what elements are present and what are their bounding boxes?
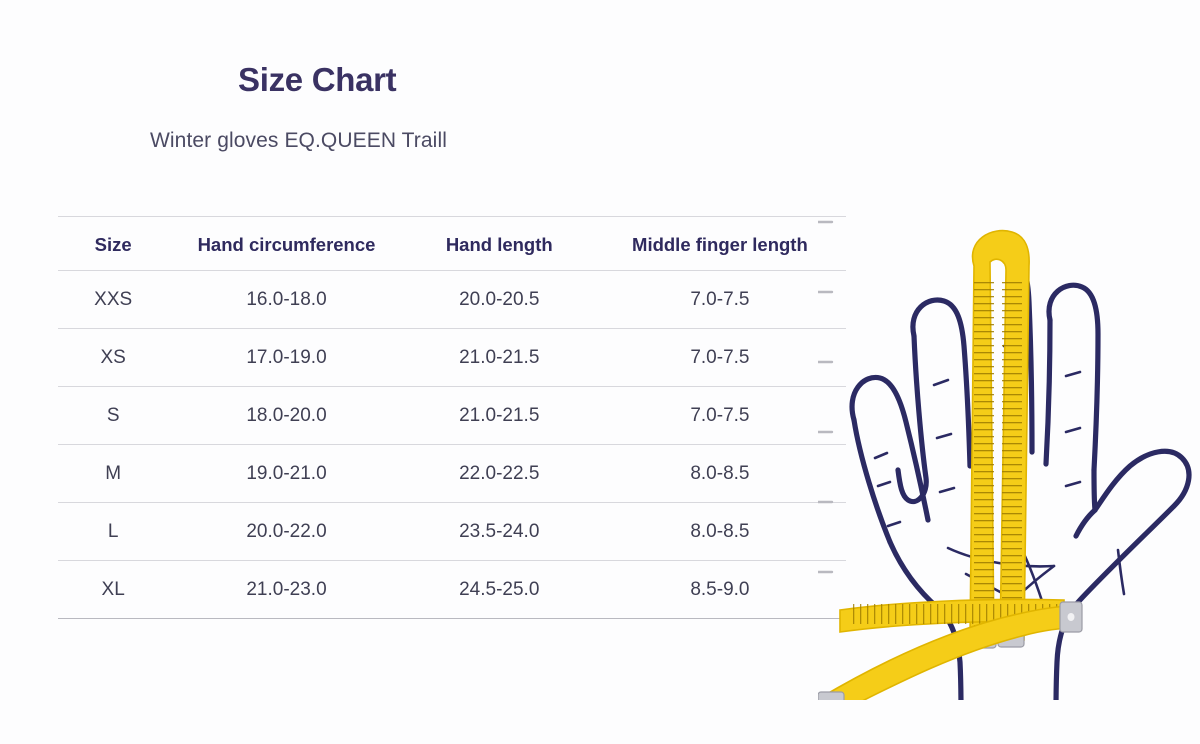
cell-middle-finger-length: 8.0-8.5 <box>594 503 846 561</box>
size-table-container: Size Hand circumference Hand length Midd… <box>58 216 846 619</box>
column-header-size: Size <box>58 217 168 271</box>
table-row: XS 17.0-19.0 21.0-21.5 7.0-7.5 <box>58 329 846 387</box>
cell-hand-circumference: 17.0-19.0 <box>168 329 404 387</box>
cell-hand-circumference: 16.0-18.0 <box>168 271 404 329</box>
product-subtitle: Winter gloves EQ.QUEEN Traill <box>0 98 840 153</box>
table-row: XXS 16.0-18.0 20.0-20.5 7.0-7.5 <box>58 271 846 329</box>
cell-size: XL <box>58 561 168 619</box>
cell-middle-finger-length: 8.0-8.5 <box>594 445 846 503</box>
ruler-edge-marks <box>818 222 832 572</box>
table-header: Size Hand circumference Hand length Midd… <box>58 217 846 271</box>
column-header-middle-finger-length: Middle finger length <box>594 217 846 271</box>
table-header-row: Size Hand circumference Hand length Midd… <box>58 217 846 271</box>
table-row: L 20.0-22.0 23.5-24.0 8.0-8.5 <box>58 503 846 561</box>
hand-illustration-svg <box>818 170 1200 700</box>
header: Size Chart Winter gloves EQ.QUEEN Traill <box>0 62 840 153</box>
cell-middle-finger-length: 7.0-7.5 <box>594 329 846 387</box>
size-chart-page: Size Chart Winter gloves EQ.QUEEN Traill… <box>0 0 1200 744</box>
cell-size: L <box>58 503 168 561</box>
cell-hand-circumference: 21.0-23.0 <box>168 561 404 619</box>
table-row: M 19.0-21.0 22.0-22.5 8.0-8.5 <box>58 445 846 503</box>
table-row: XL 21.0-23.0 24.5-25.0 8.5-9.0 <box>58 561 846 619</box>
cell-size: XXS <box>58 271 168 329</box>
cell-hand-length: 23.5-24.0 <box>405 503 594 561</box>
cell-middle-finger-length: 7.0-7.5 <box>594 387 846 445</box>
vertical-measuring-tape <box>968 231 1029 648</box>
horizontal-measuring-tape <box>818 599 1082 700</box>
cell-hand-circumference: 19.0-21.0 <box>168 445 404 503</box>
cell-hand-length: 20.0-20.5 <box>405 271 594 329</box>
cell-hand-length: 21.0-21.5 <box>405 387 594 445</box>
hand-with-measuring-tape-illustration <box>818 170 1200 700</box>
cell-hand-circumference: 18.0-20.0 <box>168 387 404 445</box>
cell-hand-length: 21.0-21.5 <box>405 329 594 387</box>
cell-middle-finger-length: 8.5-9.0 <box>594 561 846 619</box>
table-row: S 18.0-20.0 21.0-21.5 7.0-7.5 <box>58 387 846 445</box>
cell-size: S <box>58 387 168 445</box>
tape-end-clip <box>818 692 844 700</box>
cell-hand-circumference: 20.0-22.0 <box>168 503 404 561</box>
page-title: Size Chart <box>0 62 840 98</box>
table-body: XXS 16.0-18.0 20.0-20.5 7.0-7.5 XS 17.0-… <box>58 271 846 619</box>
cell-middle-finger-length: 7.0-7.5 <box>594 271 846 329</box>
size-table: Size Hand circumference Hand length Midd… <box>58 216 846 619</box>
cell-size: XS <box>58 329 168 387</box>
column-header-hand-circumference: Hand circumference <box>168 217 404 271</box>
column-header-hand-length: Hand length <box>405 217 594 271</box>
cell-hand-length: 24.5-25.0 <box>405 561 594 619</box>
cell-size: M <box>58 445 168 503</box>
cell-hand-length: 22.0-22.5 <box>405 445 594 503</box>
